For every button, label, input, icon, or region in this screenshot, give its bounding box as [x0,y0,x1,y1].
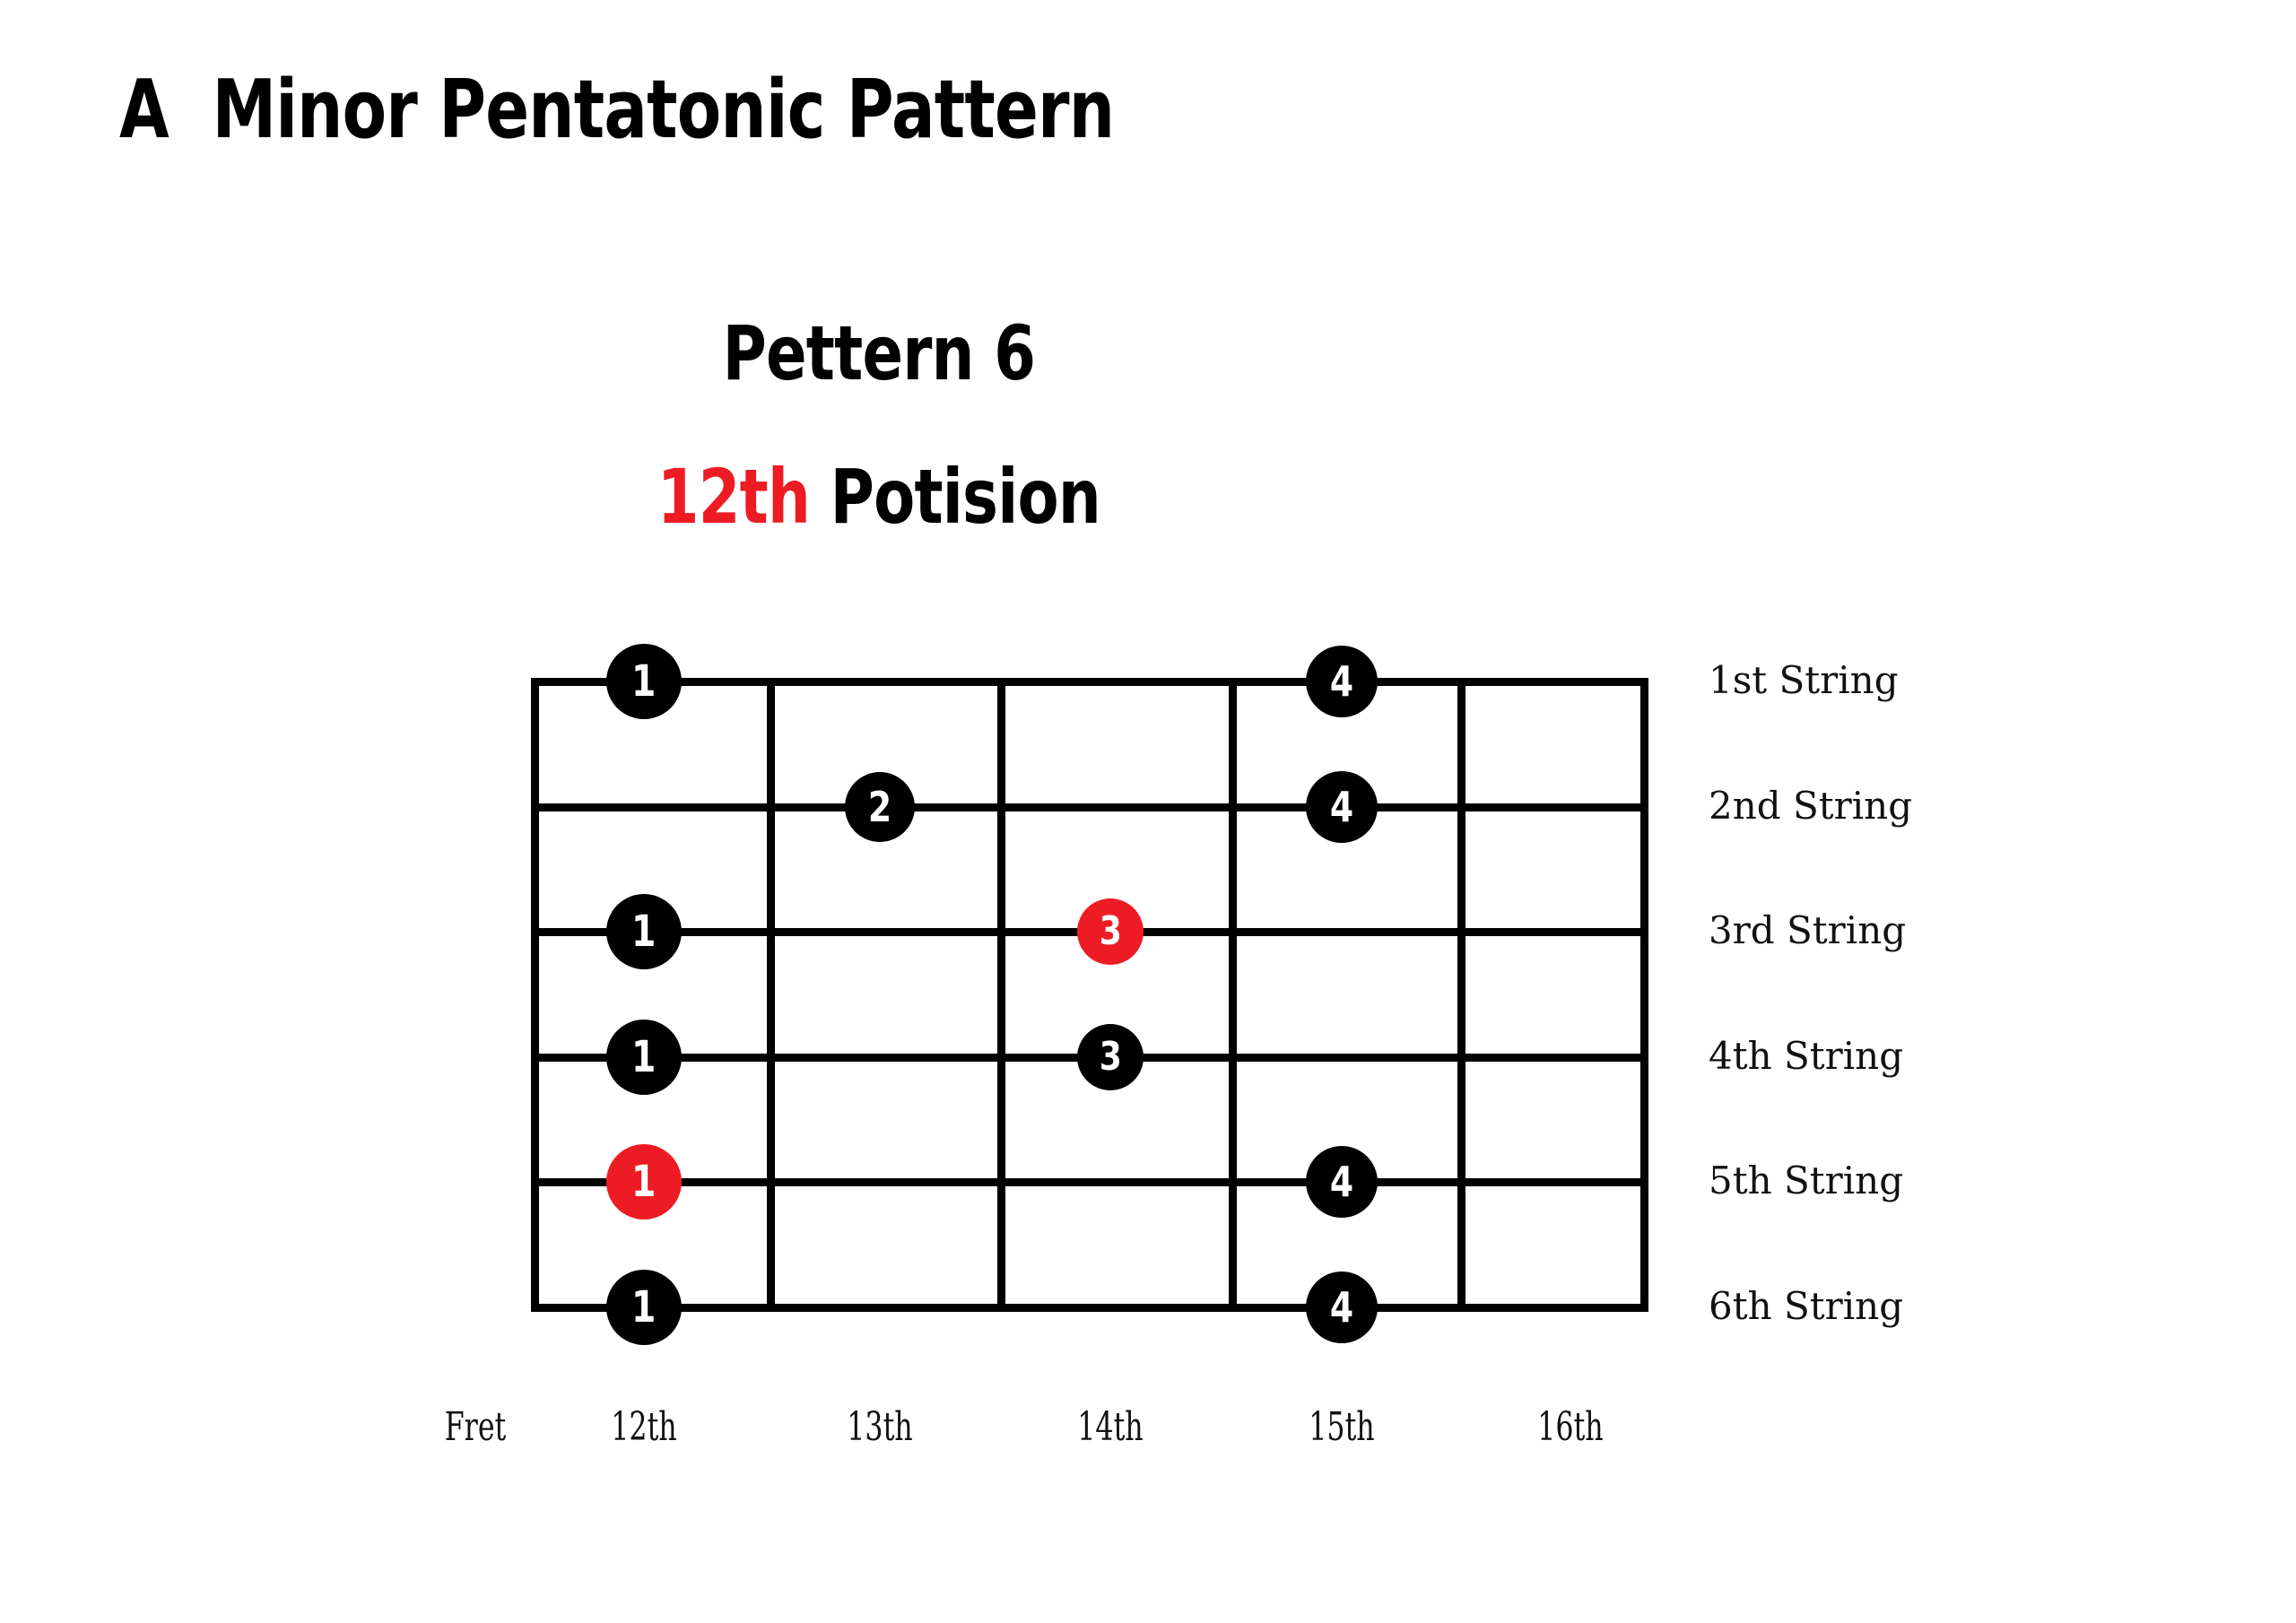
string-label-1: 1st String [1709,662,1899,699]
position-number: 12th [657,453,810,541]
string-label-4: 4th String [1709,1037,1903,1075]
pattern-title: Pettern 6 [0,316,1758,391]
fret-dot-s2-f13[interactable]: 2 [845,772,915,842]
fret-dot-s1-f12[interactable]: 1 [606,644,682,719]
fret-dot-finger-label: 1 [631,1036,656,1079]
fretboard-grid [531,681,1648,1307]
fret-line-1 [767,681,775,1307]
fret-dot-s2-f15[interactable]: 4 [1306,771,1378,843]
fret-dot-s4-f12[interactable]: 1 [606,1020,682,1095]
page-title: A Minor Pentatonic Pattern [119,70,1114,151]
fret-label-15th: 15th [1283,1408,1400,1447]
fret-label-16th: 16th [1512,1408,1629,1447]
fret-dot-finger-label: 1 [631,660,656,703]
string-line-2 [531,803,1648,811]
fret-dot-s3-f12[interactable]: 1 [606,894,682,969]
fret-dot-finger-label: 3 [1099,912,1121,951]
fret-axis-label: Fret [417,1408,534,1447]
fret-line-0 [531,681,539,1307]
position-spacer [810,453,831,541]
fret-dot-s6-f15[interactable]: 4 [1306,1271,1378,1343]
fret-dot-finger-label: 4 [1330,1287,1353,1328]
fret-dot-finger-label: 4 [1330,661,1353,702]
fret-dot-s5-f15[interactable]: 4 [1306,1146,1378,1218]
string-line-5 [531,1178,1648,1186]
fret-dot-s5-f12[interactable]: 1 [606,1144,682,1219]
fret-dot-finger-label: 4 [1330,1161,1353,1202]
fret-label-14th: 14th [1052,1408,1169,1447]
string-label-5: 5th String [1709,1162,1903,1200]
position-word: Potision [831,453,1100,541]
fret-dot-s4-f14[interactable]: 3 [1077,1024,1144,1090]
position-line-inner: 12th Potision [657,459,1100,534]
fret-label-13th: 13th [822,1408,938,1447]
string-line-1 [531,678,1648,686]
fret-dot-s1-f15[interactable]: 4 [1306,646,1378,717]
fret-line-5 [1640,681,1648,1307]
string-label-6: 6th String [1709,1288,1903,1325]
string-line-6 [531,1304,1648,1312]
fret-dot-s3-f14[interactable]: 3 [1077,898,1144,965]
fretboard-diagram-page: A Minor Pentatonic Pattern Pettern 6 12t… [0,0,2296,1623]
fret-line-2 [997,681,1005,1307]
fret-dot-finger-label: 3 [1099,1037,1121,1077]
fret-dot-s6-f12[interactable]: 1 [606,1270,682,1345]
fret-dot-finger-label: 1 [631,1286,656,1329]
pattern-title-text: Pettern 6 [723,316,1036,391]
fret-dot-finger-label: 2 [868,786,891,828]
fret-line-3 [1229,681,1237,1307]
fret-dot-finger-label: 4 [1330,786,1353,828]
string-label-3: 3rd String [1709,912,1906,950]
fret-label-12th: 12th [586,1408,702,1447]
string-label-2: 2nd String [1709,787,1912,825]
fret-dot-finger-label: 1 [631,1160,656,1203]
fret-line-4 [1457,681,1465,1307]
position-line: 12th Potision [0,459,1758,534]
fret-dot-finger-label: 1 [631,910,656,953]
